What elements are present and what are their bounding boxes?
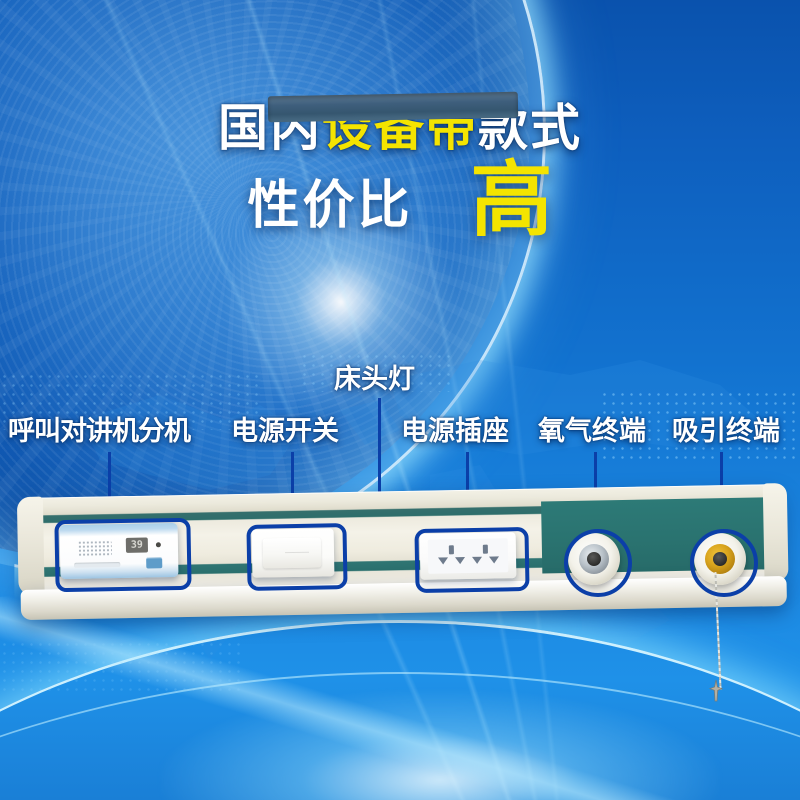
highlight-suction [690,529,758,597]
halftone-dots-bottom [0,640,240,696]
highlight-intercom [54,518,191,592]
highlight-power-socket [414,527,529,593]
panel-end-cap-right [763,483,789,581]
callout-label-bed-lamp: 床头灯 [334,357,415,396]
callout-label-power-socket: 电源插座 [401,409,509,448]
subheadline: 性价比 高 [0,162,800,240]
pull-cord-clip-icon [708,680,724,702]
callout-label-oxygen: 氧气终端 [538,409,646,448]
panel-end-cap-left [17,497,45,595]
callout-label-intercom: 呼叫对讲机分机 [8,409,190,448]
highlight-power-switch [246,523,347,591]
subheadline-value: 性价比 [247,163,412,238]
poster-canvas: 国内设备带款式 性价比 高 呼叫对讲机分机 电源开关 床头灯 电源插座 氧气终端… [0,0,800,800]
bed-lamp-diffuser [268,92,518,123]
callout-label-suction: 吸引终端 [672,409,780,448]
subheadline-emphasis: 高 [471,162,553,240]
highlight-oxygen [564,529,632,597]
callout-label-power-switch: 电源开关 [231,409,339,448]
